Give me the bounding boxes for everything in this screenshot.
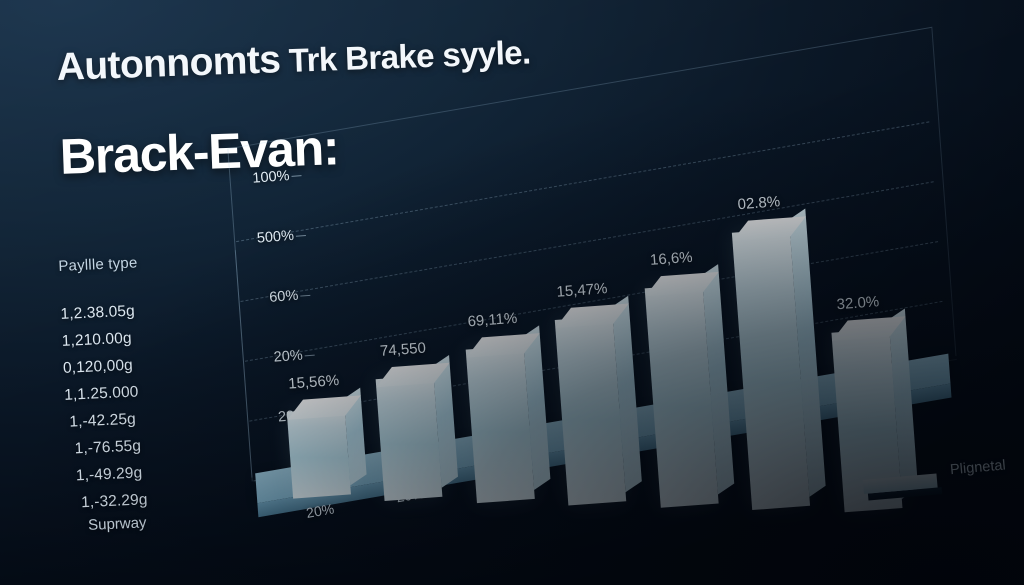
bar-value-label: 69,11% [467, 310, 518, 331]
chart-title-main: Autonnomts [56, 38, 281, 89]
bar-value-label: 32.0% [836, 293, 880, 313]
bar-value-label: 16,6% [649, 248, 693, 268]
side-column-header: Payllle type [58, 250, 229, 275]
y-axis-tick: 20% [273, 348, 303, 366]
y-axis-tick: 500% [256, 228, 294, 247]
chart-title-sub: Trk Brake syyle. [280, 33, 531, 79]
bar-front-face [287, 408, 351, 499]
bar-front-face [466, 346, 535, 504]
side-value-column: Payllle type 1,2.38.05g 1,210.00g 0,120,… [58, 250, 240, 534]
x-axis-tick-label: 20% [305, 500, 335, 521]
bar: 69,11% [466, 346, 535, 504]
bar-value-label: 74,550 [379, 340, 426, 360]
bar: 74,550 [376, 375, 443, 501]
bar: 02.8% [732, 228, 810, 510]
y-axis-tick: 60% [269, 288, 299, 306]
legend-label: Plignetal [949, 457, 1006, 478]
bar-front-face [376, 375, 443, 501]
bar: 16,6% [644, 284, 718, 508]
y-axis-tick: 100% [252, 168, 290, 187]
bar: 15,47% [555, 316, 626, 505]
chart-image: Autonnomts Trk Brake syyle. Brack-Evan: … [0, 0, 1024, 585]
bar-value-label: 02.8% [737, 193, 781, 213]
bar: 15,56% [287, 408, 351, 499]
